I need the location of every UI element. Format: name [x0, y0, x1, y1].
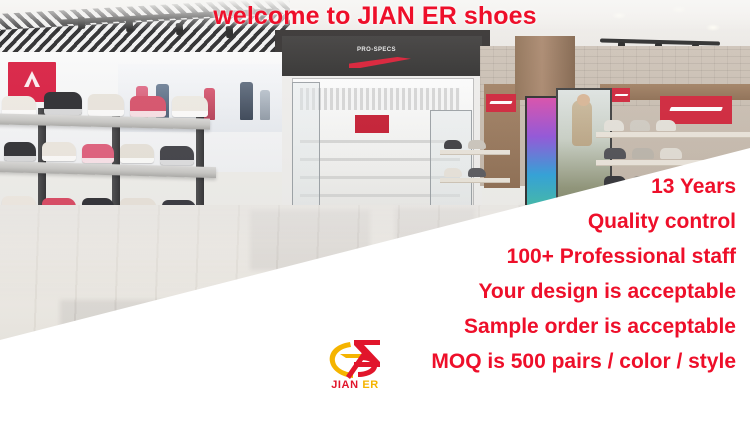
storefront-brand-poster — [355, 115, 389, 133]
shoe — [468, 140, 486, 149]
prospecs-logo-icon: PRO-SPECS — [345, 48, 417, 70]
prospecs-logo-icon — [486, 94, 516, 112]
storefront-wall-grid — [300, 88, 460, 110]
shoe — [160, 146, 194, 165]
feature-item: Quality control — [256, 211, 736, 232]
shoe — [4, 142, 36, 161]
shoe — [632, 148, 654, 159]
shoe — [604, 120, 624, 131]
shoe — [120, 144, 154, 163]
wall-shelf — [440, 150, 510, 155]
wall-shelf — [596, 132, 750, 138]
shoe — [656, 120, 676, 131]
brand-name: JIAN ER — [312, 379, 398, 391]
poster-figure — [260, 90, 270, 120]
brand-logo: JIAN ER — [312, 338, 398, 400]
shoe — [88, 94, 124, 116]
shoe — [660, 148, 682, 159]
feature-item: 13 Years — [256, 176, 736, 197]
brand-name-part1: JIAN — [331, 379, 358, 391]
shoe — [44, 92, 82, 115]
feature-item: Sample order is acceptable — [256, 316, 736, 337]
shoe — [172, 96, 208, 117]
prospecs-logo-icon — [612, 88, 630, 102]
feature-item: 100+ Professional staff — [256, 246, 736, 267]
feature-item: Your design is acceptable — [256, 281, 736, 302]
poster-figure — [240, 82, 253, 120]
jianer-monogram-icon — [320, 338, 388, 382]
brand-name-part2: ER — [362, 379, 378, 391]
shoe — [604, 148, 626, 159]
shoe — [82, 144, 114, 163]
promo-banner: PRO-SPECS — [0, 0, 750, 425]
shoe — [630, 120, 650, 131]
headline: welcome to JIAN ER shoes — [0, 2, 750, 31]
shoe — [42, 142, 76, 161]
shoe — [130, 96, 166, 117]
shoe — [444, 140, 462, 149]
